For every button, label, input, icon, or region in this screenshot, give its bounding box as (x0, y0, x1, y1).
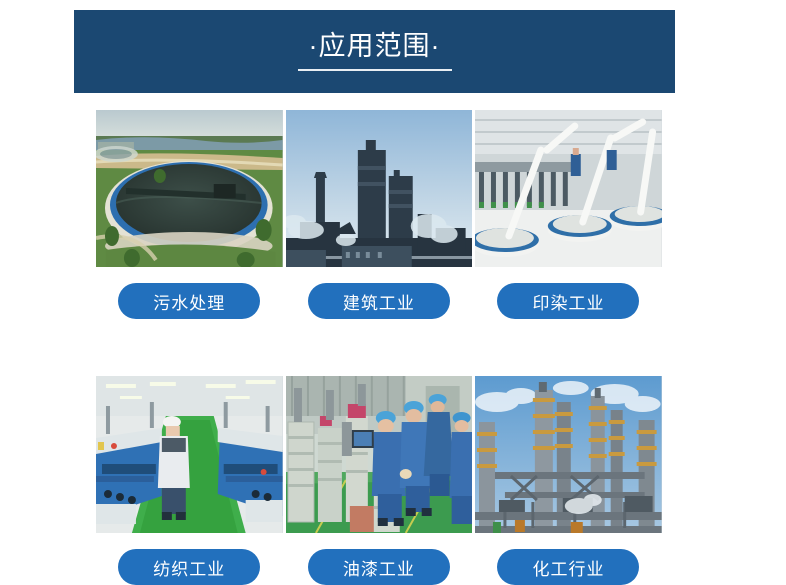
label-wastewater-treatment[interactable]: 污水处理 (118, 283, 260, 319)
label-construction-industry[interactable]: 建筑工业 (308, 283, 450, 319)
page-title: ·应用范围· (309, 33, 441, 60)
textile-dyeing-machines-photo (475, 110, 662, 267)
label-paint-industry[interactable]: 油漆工业 (308, 549, 450, 585)
card-paint-industry[interactable]: 油漆工业 (286, 376, 473, 585)
label-textile-industry[interactable]: 纺织工业 (118, 549, 260, 585)
card-row-2: 纺织工业 (96, 376, 658, 585)
title-underline (298, 69, 452, 71)
card-dyeing-industry[interactable]: 印染工业 (475, 110, 662, 319)
wastewater-treatment-clarifier-photo (96, 110, 283, 267)
application-scope-page: ·应用范围· (0, 0, 786, 549)
industrial-plant-silhouette-photo (286, 110, 473, 267)
label-dyeing-industry[interactable]: 印染工业 (497, 283, 639, 319)
weaving-mill-workshop-photo (96, 376, 283, 533)
card-chemical-industry[interactable]: 化工行业 (475, 376, 662, 585)
card-textile-industry[interactable]: 纺织工业 (96, 376, 283, 585)
label-chemical-industry[interactable]: 化工行业 (497, 549, 639, 585)
card-wastewater-treatment[interactable]: 污水处理 (96, 110, 283, 319)
card-row-1: 污水处理 (96, 110, 658, 319)
chemical-refinery-plant-photo (475, 376, 662, 533)
paint-plant-workers-photo (286, 376, 473, 533)
card-construction-industry[interactable]: 建筑工业 (286, 110, 473, 319)
application-grid: 污水处理 (96, 110, 658, 585)
section-banner: ·应用范围· (74, 10, 675, 93)
